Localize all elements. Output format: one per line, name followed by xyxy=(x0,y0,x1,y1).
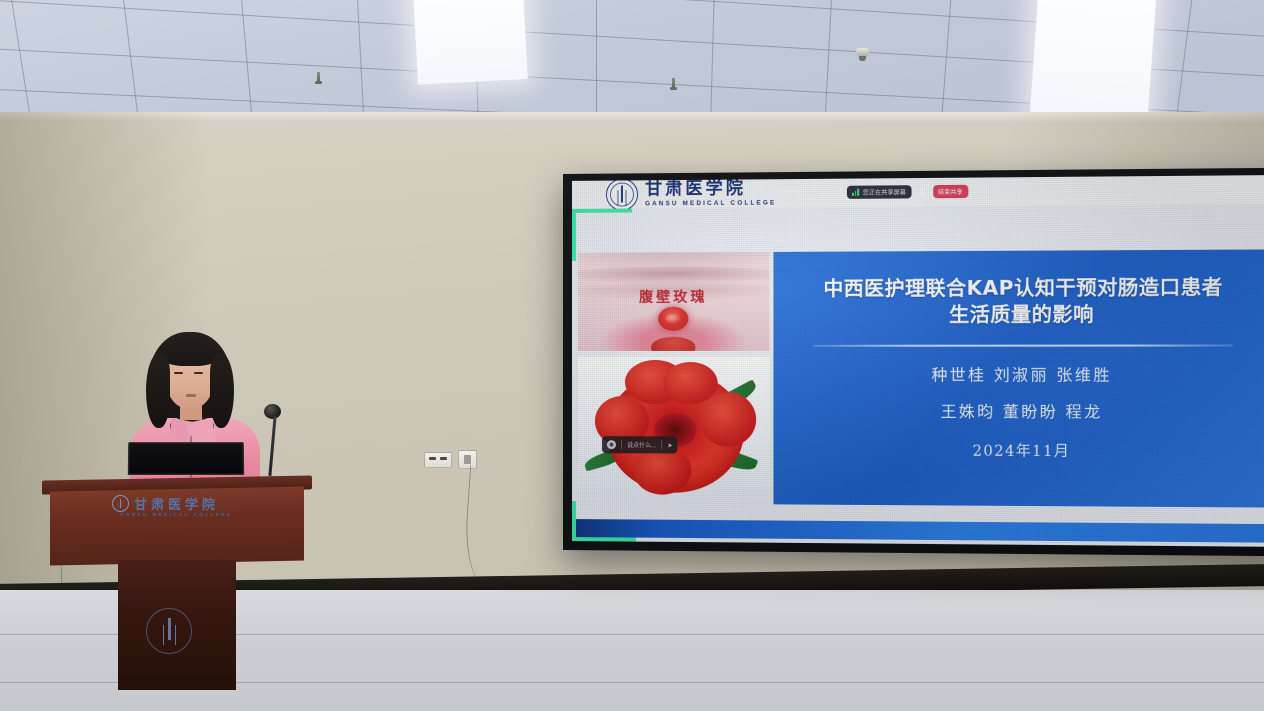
page-title: 中西医护理联合KAP认知干预对肠造口患者生活质量的影响 xyxy=(820,274,1226,328)
hand-icon[interactable] xyxy=(917,187,926,196)
slide-accent-corner xyxy=(572,209,576,261)
authors-line-2: 王姝昀 董盼盼 程龙 xyxy=(940,399,1102,422)
laptop-screen xyxy=(128,442,244,475)
assistant-input[interactable]: 说点什么... xyxy=(627,440,656,449)
authors-line-1: 种世桂 刘淑丽 张维胜 xyxy=(931,363,1111,386)
presentation-slide: ☁ 拖拽至此上传 腹壁玫瑰 xyxy=(572,204,1264,547)
microphone-stand xyxy=(268,416,276,476)
slide-accent-corner xyxy=(572,209,632,213)
podium-microphone xyxy=(258,404,286,474)
podium-logo: 甘肃医学院 xyxy=(112,494,219,513)
ceiling xyxy=(0,0,1264,122)
sprinkler-icon xyxy=(672,78,675,89)
slide-title-panel: 中西医护理联合KAP认知干预对肠造口患者生活质量的影响 种世桂 刘淑丽 张维胜 … xyxy=(773,249,1264,507)
assistant-avatar-icon: ◉ xyxy=(607,440,616,449)
podium: 甘肃医学院 GANSU MEDICAL COLLEGE xyxy=(42,478,312,588)
assistant-input-widget[interactable]: ◉ 说点什么... ➤ xyxy=(602,436,678,453)
brand-name-en: GANSU MEDICAL COLLEGE xyxy=(645,200,776,207)
sprinkler-icon xyxy=(317,72,320,83)
led-display-screen[interactable]: 甘肃医学院 GANSU MEDICAL COLLEGE 您正在共享屏幕 结束共享 xyxy=(572,175,1264,547)
ceiling-light-panel xyxy=(412,0,528,85)
presentation-date: 2024年11月 xyxy=(972,439,1070,461)
slide-photo-column: 腹壁玫瑰 xyxy=(578,252,769,504)
hair-side xyxy=(146,354,170,428)
brand-name-cn: 甘肃医学院 xyxy=(645,180,776,198)
stoma-marker xyxy=(658,307,688,331)
hair-side xyxy=(210,354,234,428)
podium-name-en: GANSU MEDICAL COLLEGE xyxy=(120,512,233,517)
led-display-frame: 甘肃医学院 GANSU MEDICAL COLLEGE 您正在共享屏幕 结束共享 xyxy=(563,168,1264,557)
share-status-pill[interactable]: 您正在共享屏幕 xyxy=(847,185,911,199)
smoke-detector-icon xyxy=(856,48,869,57)
stoma-photo-caption: 腹壁玫瑰 xyxy=(578,286,769,307)
slide-bottom-bar xyxy=(576,519,1264,543)
wall-outlet xyxy=(424,452,452,468)
red-rose-photo: ◉ 说点什么... ➤ xyxy=(578,357,769,504)
signal-bars-icon xyxy=(852,189,859,196)
university-seal-icon xyxy=(606,178,638,210)
mouth xyxy=(186,394,196,397)
stop-share-button[interactable]: 结束共享 xyxy=(933,185,968,199)
university-seal-icon xyxy=(112,495,129,512)
stop-share-label: 结束共享 xyxy=(938,187,963,196)
brand-lockup: 甘肃医学院 GANSU MEDICAL COLLEGE xyxy=(606,177,777,210)
slide-accent-corner xyxy=(572,537,636,542)
ceiling-light-panel xyxy=(1030,0,1158,120)
send-icon[interactable]: ➤ xyxy=(667,441,672,449)
rose-bloom xyxy=(607,372,744,493)
screenshot-root: 甘肃医学院 GANSU MEDICAL COLLEGE 您正在共享屏幕 结束共享 xyxy=(0,0,1264,711)
laptop[interactable] xyxy=(128,442,244,478)
title-divider xyxy=(813,345,1233,347)
stoma-photo: 腹壁玫瑰 xyxy=(578,252,769,351)
stoma-marker xyxy=(651,337,695,351)
university-seal-icon xyxy=(146,608,192,654)
podium-name-cn: 甘肃医学院 xyxy=(134,494,219,513)
share-status-label: 您正在共享屏幕 xyxy=(863,187,906,196)
share-status-cluster: 您正在共享屏幕 结束共享 xyxy=(847,185,968,199)
podium-base xyxy=(118,560,236,690)
